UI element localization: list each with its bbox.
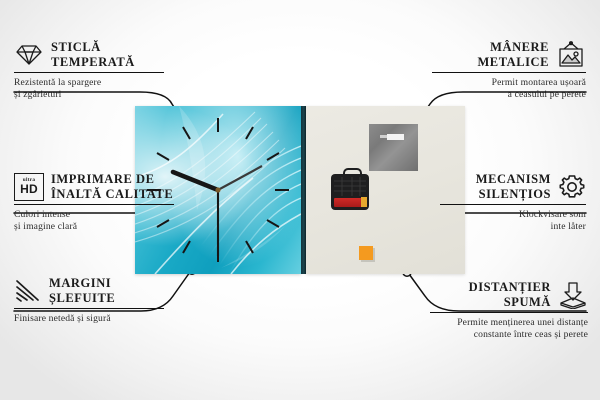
hands-hub — [215, 187, 220, 192]
second-hand — [218, 166, 262, 190]
callout-subtitle: Permite menținerea unei distanțe constan… — [430, 317, 588, 340]
hanger-slot-secondary — [380, 135, 387, 138]
hanger-slot — [387, 134, 404, 140]
callout-title: MARGINI ȘLEFUITE — [49, 276, 115, 305]
callout-high-quality-print: ultra HD IMPRIMARE DE ÎNALTĂ CALITATE Cu… — [14, 172, 190, 233]
callout-metal-hangers: MÂNERE METALICE Permit montarea ușoară a… — [432, 40, 586, 101]
press-down-pad-icon — [558, 281, 588, 309]
callout-subtitle: Culori intense și imagine clară — [14, 209, 190, 232]
divider — [440, 204, 586, 205]
ultra-hd-large-label: HD — [20, 183, 38, 195]
divider — [432, 72, 586, 73]
callout-title: MÂNERE METALICE — [477, 40, 549, 69]
callout-subtitle: Finisare netedă și sigură — [14, 313, 180, 325]
polished-edge-icon — [14, 279, 42, 303]
callout-tempered-glass: STICLĂ TEMPERATĂ Rezistentă la spargere … — [14, 40, 182, 101]
callout-subtitle: Klockvisare som inte låter — [440, 209, 586, 232]
divider — [14, 204, 174, 205]
metal-hanger-plate — [369, 124, 418, 171]
divider — [14, 72, 164, 73]
callout-subtitle: Permit montarea ușoară a ceasului pe per… — [432, 77, 586, 100]
callout-silent-mechanism: MECANISM SILENȚIOS Klockvisare som inte … — [440, 172, 586, 233]
mechanism-texture — [334, 177, 366, 196]
divider — [14, 308, 164, 309]
diamond-icon — [14, 43, 44, 67]
infographic-canvas: STICLĂ TEMPERATĂ Rezistentă la spargere … — [0, 0, 600, 400]
picture-frame-hanging-icon — [556, 41, 586, 69]
divider — [430, 312, 588, 313]
callout-title: MECANISM SILENȚIOS — [476, 172, 551, 201]
gear-icon — [558, 173, 586, 201]
callout-polished-edges: MARGINI ȘLEFUITE Finisare netedă și sigu… — [14, 276, 180, 325]
callout-title: DISTANȚIER SPUMĂ — [469, 280, 551, 309]
callout-foam-spacer: DISTANȚIER SPUMĂ Permite menținerea unei… — [430, 280, 588, 341]
callout-subtitle: Rezistentă la spargere și zgârieturi — [14, 77, 182, 100]
ultra-hd-icon: ultra HD — [14, 173, 44, 201]
callout-title: IMPRIMARE DE ÎNALTĂ CALITATE — [51, 172, 173, 201]
foam-spacer — [359, 246, 373, 260]
callout-title: STICLĂ TEMPERATĂ — [51, 40, 135, 69]
battery-plus-terminal — [361, 197, 367, 207]
